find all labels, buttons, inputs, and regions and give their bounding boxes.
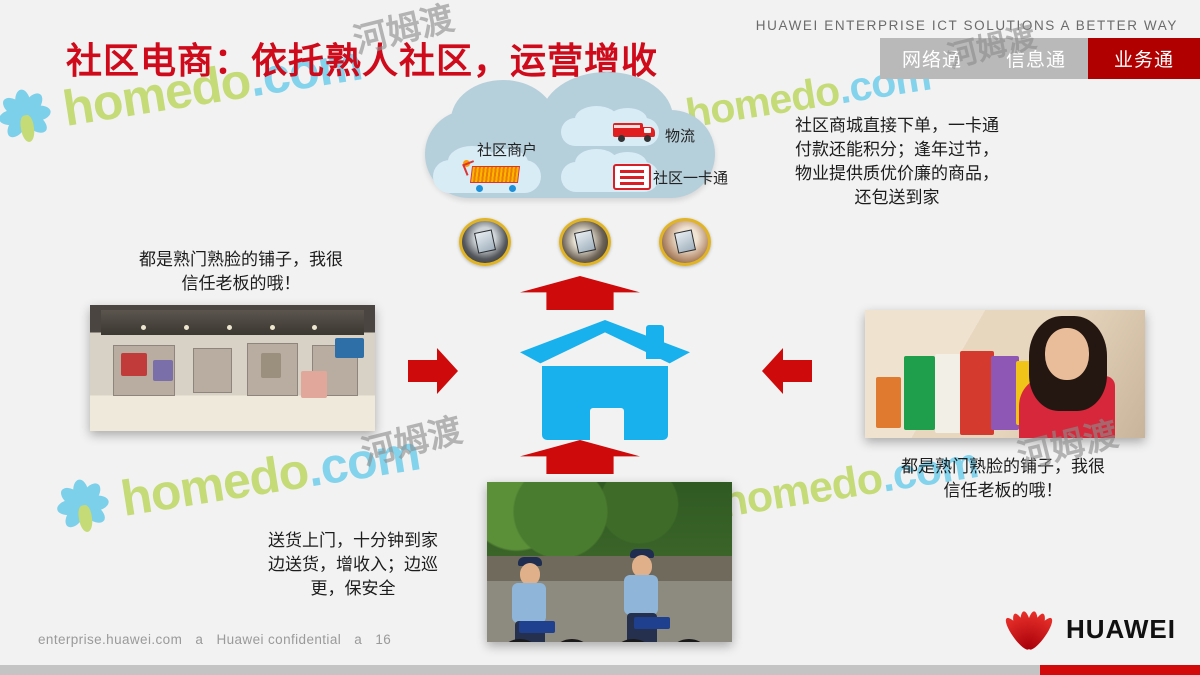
- callout-top-right: 社区商城直接下单，一卡通 付款还能积分；逢年过节， 物业提供质优价廉的商品， 还…: [766, 114, 1028, 211]
- callout-top-left: 都是熟门熟脸的铺子，我很 信任老板的哦！: [96, 248, 386, 296]
- huawei-logo: HUAWEI: [1003, 609, 1176, 649]
- watermark-homedo: homedo.com: [50, 423, 424, 538]
- woman-with-shopping-bags-photo: [865, 310, 1145, 438]
- delivery-truck-icon: [611, 121, 659, 143]
- huawei-flower-icon: [1003, 609, 1055, 649]
- homedo-flower-icon: [50, 472, 116, 538]
- bottom-bar-accent: [1040, 665, 1200, 675]
- clothing-store-interior-photo: [90, 305, 375, 431]
- home-icon: [520, 320, 690, 440]
- pos-terminal-thumbnail: [459, 218, 511, 266]
- callout-bottom-left: 送货上门，十分钟到家 边送货，增收入；边巡 更，保安全: [238, 529, 468, 601]
- footer-separator-2: a: [354, 632, 362, 647]
- homedo-wordmark: homedo.com: [117, 423, 424, 527]
- footer-page-number: 16: [375, 632, 391, 647]
- arrow-up-bottom-icon: [520, 440, 640, 474]
- page-title: 社区电商：依托熟人社区，运营增收: [66, 32, 658, 84]
- huawei-wordmark: HUAWEI: [1066, 614, 1176, 645]
- cloud-label-onecard: 社区一卡通: [653, 167, 728, 188]
- tab-wangluotong[interactable]: 网络通: [880, 38, 984, 79]
- smartphone-app-thumbnail: [659, 218, 711, 266]
- footer-site: enterprise.huawei.com: [38, 632, 182, 647]
- footer-meta: enterprise.huawei.com a Huawei confident…: [38, 632, 400, 647]
- homedo-flower-icon: [0, 82, 58, 148]
- community-cloud-diagram: 社区商户 物流 社区一卡通: [425, 92, 725, 217]
- footer-confidential: Huawei confidential: [216, 632, 341, 647]
- shopping-cart-icon: [463, 162, 523, 192]
- arrow-left-icon: [762, 348, 812, 394]
- arrow-up-icon: [520, 276, 640, 310]
- slide-canvas: homedo.com homedo.com homedo.com: [0, 0, 1200, 675]
- bottom-bar: [0, 665, 1200, 675]
- tab-yewutong[interactable]: 业务通: [1088, 38, 1200, 79]
- nav-tabs: 网络通 信息通 业务通: [880, 38, 1200, 79]
- access-card-icon: [613, 164, 651, 190]
- arrow-right-icon: [408, 348, 458, 394]
- cloud-label-logistics: 物流: [665, 125, 695, 146]
- police-officers-on-bicycles-photo: [487, 482, 732, 642]
- tab-xinxitong[interactable]: 信息通: [984, 38, 1088, 79]
- tablet-payment-thumbnail: [559, 218, 611, 266]
- huawei-tagline: HUAWEI ENTERPRISE ICT SOLUTIONS A BETTER…: [756, 18, 1178, 33]
- footer-separator-1: a: [195, 632, 203, 647]
- device-thumbnails: [455, 218, 715, 270]
- cloud-label-merchant: 社区商户: [477, 139, 537, 160]
- callout-bottom-right: 都是熟门熟脸的铺子，我很 信任老板的哦！: [858, 455, 1148, 503]
